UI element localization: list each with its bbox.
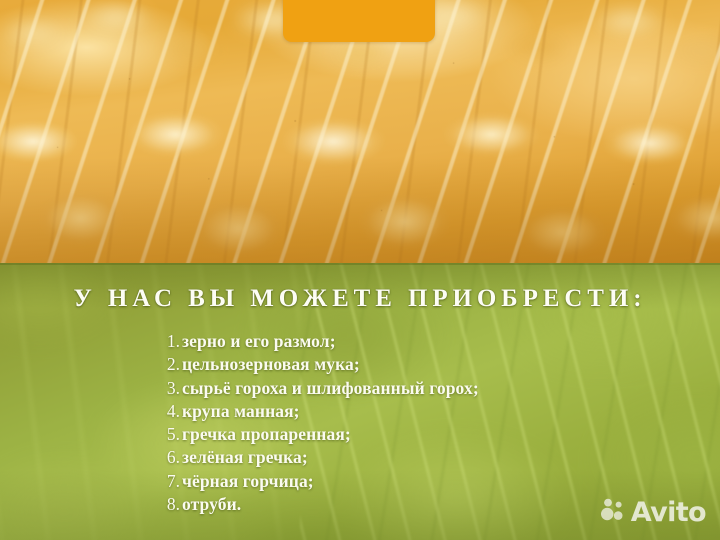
list-item: 5.гречка пропаренная; — [0, 424, 720, 447]
list-item: 2.цельнозерновая мука; — [0, 354, 720, 377]
list-item: 4.крупа манная; — [0, 401, 720, 424]
list-item-label: цельнозерновая мука; — [182, 354, 360, 375]
list-item-label: гречка пропаренная; — [182, 424, 351, 445]
poster-image: У НАС ВЫ МОЖЕТЕ ПРИОБРЕСТИ: 1.зерно и ег… — [0, 0, 720, 540]
list-item-number: 1. — [0, 331, 182, 352]
list-item-label: отруби. — [182, 494, 241, 515]
list-item: 6.зелёная гречка; — [0, 447, 720, 470]
product-list: 1.зерно и его размол;2.цельнозерновая му… — [0, 331, 720, 517]
list-item-label: крупа манная; — [182, 401, 300, 422]
avito-dots-icon — [600, 497, 626, 528]
list-item-number: 2. — [0, 354, 182, 375]
list-item: 1.зерно и его размол; — [0, 331, 720, 354]
list-item-label: зелёная гречка; — [182, 447, 308, 468]
list-item: 7.чёрная горчица; — [0, 471, 720, 494]
list-item-number: 6. — [0, 447, 182, 468]
list-item-label: чёрная горчица; — [182, 471, 314, 492]
list-item-number: 4. — [0, 401, 182, 422]
list-item-number: 3. — [0, 378, 182, 399]
list-item: 3.сырьё гороха и шлифованный горох; — [0, 378, 720, 401]
panel-top-edge — [0, 263, 720, 265]
page-title: У НАС ВЫ МОЖЕТЕ ПРИОБРЕСТИ: — [0, 285, 720, 313]
list-item-number: 7. — [0, 471, 182, 492]
photo-bottom-shading — [0, 143, 720, 263]
avito-watermark: Avito — [600, 497, 706, 528]
list-item-label: зерно и его размол; — [182, 331, 336, 352]
orange-label-box[interactable] — [283, 0, 435, 42]
avito-wordmark: Avito — [631, 499, 706, 526]
list-item-number: 5. — [0, 424, 182, 445]
list-item-label: сырьё гороха и шлифованный горох; — [182, 378, 479, 399]
list-item-number: 8. — [0, 494, 182, 515]
